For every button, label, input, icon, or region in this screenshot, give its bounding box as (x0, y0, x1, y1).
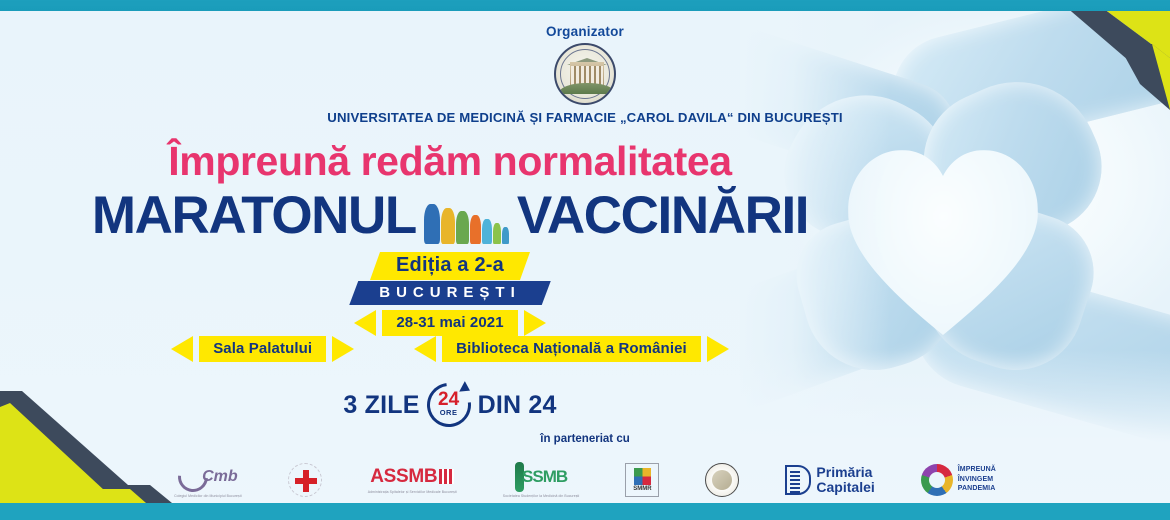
assmb-wordmark: ASSMB (370, 466, 437, 487)
bottom-teal-bar (0, 503, 1170, 520)
primaria-mark-icon (785, 465, 811, 495)
pandemia-line3: PANDEMIA (958, 484, 996, 493)
hours-prefix: 3 ZILE (343, 391, 419, 420)
partner-logo-assmb: ASSMB Administrația Spitalelor și Servic… (368, 455, 457, 505)
title-word-right: VACCINĂRII (517, 189, 808, 242)
university-seal-logo (554, 43, 616, 105)
triangle-accent-left-icon (171, 336, 193, 362)
organizer-name: UNIVERSITATEA DE MEDICINĂ ȘI FARMACIE „C… (0, 110, 1170, 125)
triangle-accent-left-icon (414, 336, 436, 362)
triangle-accent-right-icon (332, 336, 354, 362)
pandemia-line2: ÎNVINGEM (958, 475, 996, 484)
assmb-caption: Administrația Spitalelor și Serviciilor … (368, 490, 457, 494)
top-teal-bar (0, 0, 1170, 11)
title-word-left: MARATONUL (92, 189, 416, 242)
venues-row: Sala Palatului Biblioteca Națională a Ro… (0, 336, 900, 362)
people-circle-icon (921, 464, 953, 496)
partner-logo-primaria-capitalei: Primăria Capitalei (785, 455, 874, 505)
pandemia-line1: ÎMPREUNĂ (958, 465, 996, 474)
institutional-seal-icon (705, 463, 739, 497)
bottom-left-chevron-decoration (0, 373, 210, 503)
primaria-line2: Capitalei (816, 480, 874, 495)
venue-1: Sala Palatului (171, 336, 354, 362)
triangle-accent-right-icon (524, 310, 546, 336)
vaccination-marathon-banner: Organizator UNIVERSITATEA DE MEDICINĂ ȘI… (0, 0, 1170, 520)
partner-logo-seal (705, 455, 739, 505)
partner-logo-smmr: SMMR (625, 455, 659, 505)
edition-banner: Ediția a 2-a BUCUREȘTI (0, 252, 900, 305)
triangle-accent-right-icon (707, 336, 729, 362)
venue-name: Sala Palatului (199, 336, 326, 362)
hours-suffix: DIN 24 (478, 391, 557, 420)
venue-name: Biblioteca Națională a României (442, 336, 701, 362)
partner-logo-impreuna-invingem-pandemia: ÎMPREUNĂ ÎNVINGEM PANDEMIA (921, 455, 996, 505)
edition-number: Ediția a 2-a (370, 252, 530, 280)
primaria-line1: Primăria (816, 465, 874, 480)
red-cross-icon (288, 463, 322, 497)
badge-unit: ORE (427, 408, 471, 417)
partner-logo-red-cross (288, 455, 322, 505)
partner-logo-ssmb: SSMB Societatea Studenților la Medicină … (503, 455, 580, 505)
main-title: MARATONUL (0, 186, 900, 244)
top-right-chevron-decoration (1000, 0, 1170, 110)
people-group-icon (420, 186, 513, 244)
event-date: 28-31 mai 2021 (382, 310, 517, 336)
triangle-accent-left-icon (354, 310, 376, 336)
ssmb-caption: Societatea Studenților la Medicină din B… (503, 494, 580, 498)
organizer-label: Organizator (0, 24, 1170, 39)
ssmb-wordmark: SSMB (522, 467, 567, 487)
clock-24h-icon: 24 ORE (427, 383, 471, 427)
edition-city: BUCUREȘTI (349, 281, 551, 305)
badge-number: 24 (427, 390, 471, 409)
tagline: Împreună redăm normalitatea (0, 138, 900, 185)
venue-2: Biblioteca Națională a României (414, 336, 729, 362)
date-row: 28-31 mai 2021 (0, 310, 900, 336)
smmr-wordmark: SMMR (633, 486, 651, 492)
